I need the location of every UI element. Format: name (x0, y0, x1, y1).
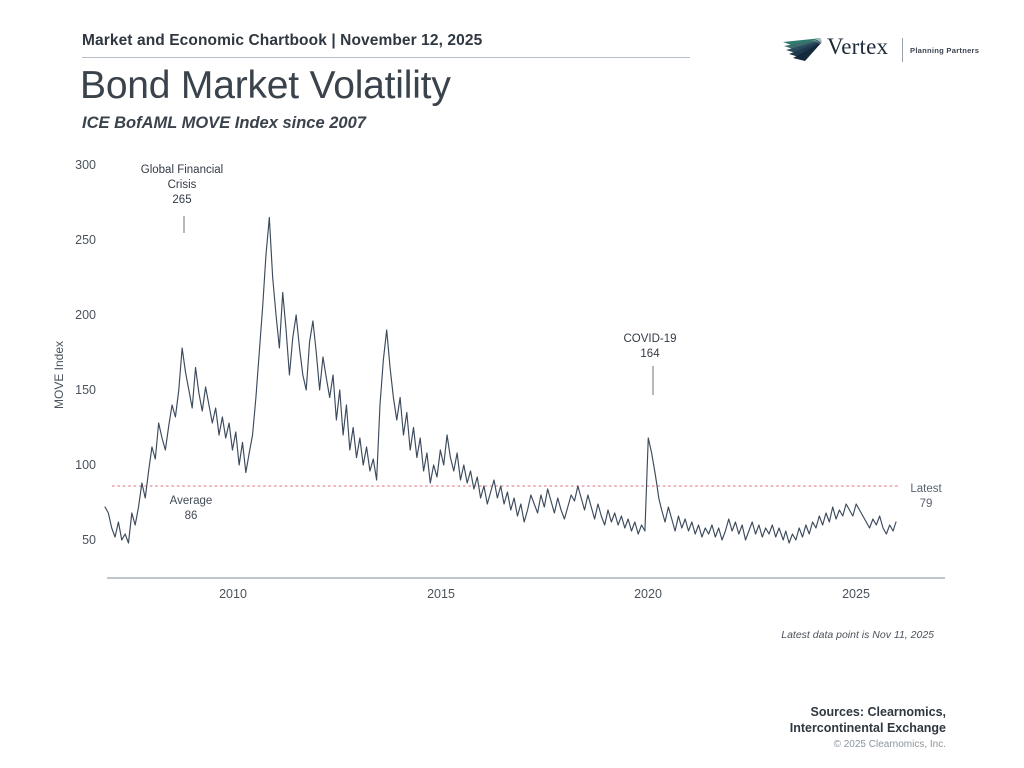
latest-value: 79 (898, 497, 954, 512)
gfc-label-line2: Crisis (118, 178, 246, 193)
covid-value: 164 (598, 347, 702, 362)
annotation-global-financial-crisis: Global Financial Crisis 265 (118, 163, 246, 208)
x-tick-2010: 2010 (203, 587, 263, 601)
gfc-label-line1: Global Financial (118, 163, 246, 178)
x-tick-2020: 2020 (618, 587, 678, 601)
y-tick-200: 200 (62, 308, 96, 322)
annotation-covid-19: COVID-19 164 (598, 332, 702, 362)
average-label: Average (148, 494, 234, 509)
latest-label: Latest (898, 482, 954, 497)
y-tick-250: 250 (62, 233, 96, 247)
sources-line-2: Intercontinental Exchange (700, 720, 946, 736)
annotation-average: Average 86 (148, 494, 234, 524)
annotation-latest: Latest 79 (898, 482, 954, 512)
chart-canvas (0, 0, 1024, 768)
y-tick-150: 150 (62, 383, 96, 397)
average-value: 86 (148, 509, 234, 524)
covid-label: COVID-19 (598, 332, 702, 347)
y-tick-300: 300 (62, 158, 96, 172)
chart-footnote: Latest data point is Nov 11, 2025 (700, 629, 934, 641)
copyright-notice: © 2025 Clearnomics, Inc. (700, 737, 946, 752)
x-tick-2025: 2025 (826, 587, 886, 601)
y-tick-50: 50 (62, 533, 96, 547)
sources-block: Sources: Clearnomics, Intercontinental E… (700, 704, 946, 752)
sources-line-1: Sources: Clearnomics, (700, 704, 946, 720)
x-tick-2015: 2015 (411, 587, 471, 601)
gfc-value: 265 (118, 193, 246, 208)
y-tick-100: 100 (62, 458, 96, 472)
y-axis-title: MOVE Index (52, 315, 66, 435)
move-index-line-chart: 300 250 200 150 100 50 MOVE Index 2010 2… (0, 0, 1024, 768)
